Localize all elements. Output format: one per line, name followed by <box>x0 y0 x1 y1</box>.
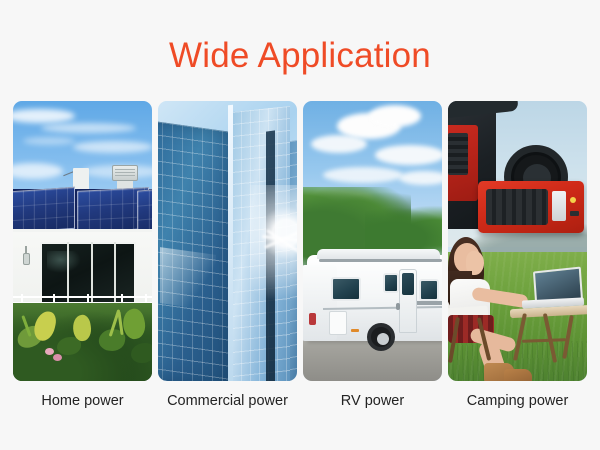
application-card-camping-power[interactable] <box>448 101 587 381</box>
camping-power-image <box>448 101 587 381</box>
cloud-shape <box>23 137 75 145</box>
garden-foreground <box>13 303 152 381</box>
caption-rv-power: RV power <box>303 392 442 411</box>
rv-body-stripe <box>323 306 442 310</box>
rv-window <box>383 273 399 293</box>
rv-door-window <box>402 273 414 295</box>
rv-window <box>331 277 361 301</box>
caption-home-power: Home power <box>13 392 152 411</box>
window-reflection <box>47 251 81 273</box>
tail-light <box>552 191 566 221</box>
rv-tail-light <box>309 313 316 325</box>
home-power-image <box>13 101 152 381</box>
tower-corner-edge <box>228 105 233 381</box>
indicator-light <box>570 197 576 203</box>
flower-bloom <box>45 348 54 355</box>
application-card-rv-power[interactable] <box>303 101 442 381</box>
commercial-power-image <box>158 101 297 381</box>
roof-chimney <box>73 168 89 190</box>
rv-wheel <box>367 323 395 351</box>
caption-row: Home power Commercial power RV power Cam… <box>13 392 587 411</box>
rv-storage-hatch <box>329 311 347 335</box>
rv-body <box>307 255 442 341</box>
solar-panel-array <box>13 189 152 231</box>
application-card-commercial-power[interactable] <box>158 101 297 381</box>
rv-window <box>419 279 439 301</box>
output-port <box>570 211 579 216</box>
glass-tower-right-face <box>232 106 290 381</box>
tower-gap-shadow <box>266 130 275 381</box>
cloud-shape <box>311 135 367 153</box>
application-card-gallery <box>13 101 587 381</box>
ribbed-panel <box>486 189 548 225</box>
cloud-shape <box>41 123 136 133</box>
plant-leaf <box>131 343 152 363</box>
vehicle-red-panel <box>448 125 478 201</box>
cloud-shape <box>375 145 442 165</box>
plant-leaf <box>32 309 58 343</box>
cloud-shape <box>73 141 152 153</box>
cloud-shape <box>369 105 421 127</box>
flower-bloom <box>53 354 62 361</box>
rv-roof <box>317 249 440 259</box>
cloud-shape <box>323 167 403 183</box>
rooftop-ac-unit <box>112 165 138 181</box>
cloud-shape <box>399 171 442 185</box>
solar-panel <box>13 187 75 233</box>
glass-reflection <box>160 247 216 311</box>
caption-commercial-power: Commercial power <box>158 392 297 411</box>
rv-power-image <box>303 101 442 381</box>
page-title: Wide Application <box>0 34 600 78</box>
wall-lamp <box>23 253 30 265</box>
red-tailgate-panel <box>478 181 584 233</box>
rv-awning-rail <box>319 259 442 262</box>
rv-door-handle <box>396 303 400 310</box>
wide-application-banner: Wide Application <box>0 0 600 450</box>
solar-panel <box>137 187 152 232</box>
application-card-home-power[interactable] <box>13 101 152 381</box>
caption-camping-power: Camping power <box>448 392 587 411</box>
rv-marker-light <box>351 329 359 332</box>
person-boot <box>504 369 532 381</box>
